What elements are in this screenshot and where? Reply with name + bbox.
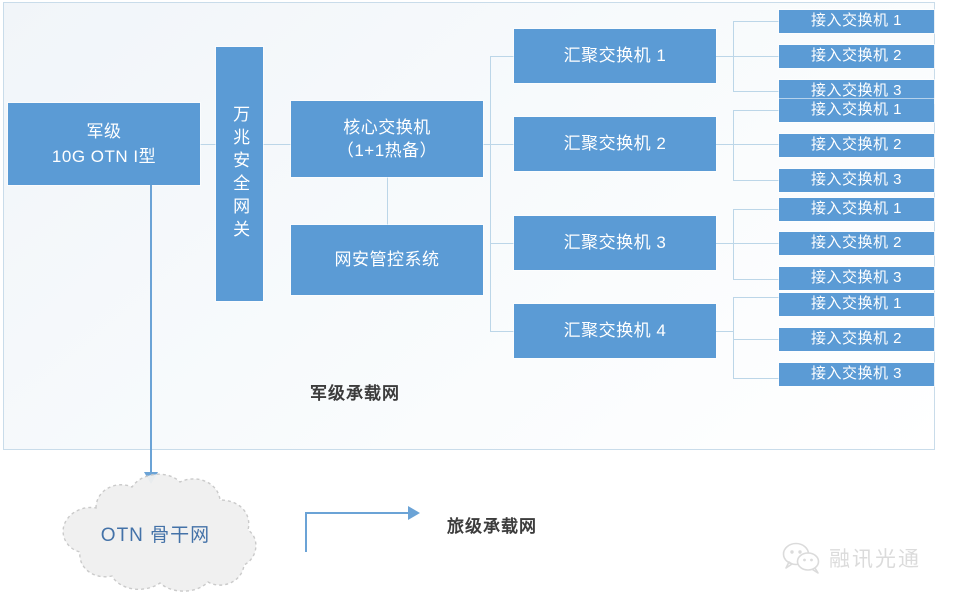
aggregation-switch-1[interactable]: 汇聚交换机 1 [514,29,716,83]
bracket-branch-g1-a2 [733,56,779,57]
core-switch-line2: （1+1热备） [337,140,437,161]
arrow-cloud-to-brigade-head [408,506,420,520]
bracket-branch-g4-a1 [733,297,779,298]
bracket-branch-agg-2 [490,144,514,145]
access-switch-6-label: 接入交换机 3 [811,171,902,190]
connector-gateway-core [263,144,291,145]
bracket-branch-agg-4 [490,331,514,332]
access-switch-12-label: 接入交换机 3 [811,365,902,384]
security-gateway-node[interactable]: 万兆安全网关 [216,47,263,301]
connector-agg1-bracket [716,56,734,57]
arrow-cloud-to-brigade-shaft [305,512,410,514]
aggregation-switch-3[interactable]: 汇聚交换机 3 [514,216,716,270]
arrow-cloud-to-brigade-riser [305,512,307,552]
bracket-spine-aggregation [490,56,491,331]
bracket-branch-g2-a1 [733,110,779,111]
bracket-branch-g3-a2 [733,243,779,244]
otn-backbone-cloud [38,468,273,598]
connector-agg4-bracket [716,331,734,332]
access-switch-1-label: 接入交换机 1 [811,12,902,31]
bracket-spine-group-3 [733,209,734,279]
access-switch-8-label: 接入交换机 2 [811,234,902,253]
otn-terminal-line1: 军级 [87,121,122,142]
connector-core-secmgmt [387,177,388,225]
diagram-canvas: 汇聚交换机 1 汇聚交换机 2 汇聚交换机 3 汇聚交换机 4 接入交换机 1 … [0,0,975,605]
access-switch-7[interactable]: 接入交换机 1 [779,198,934,221]
bracket-branch-g3-a1 [733,209,779,210]
bracket-spine-group-2 [733,110,734,180]
bracket-branch-g4-a3 [733,378,779,379]
brigade-network-label: 旅级承载网 [447,512,537,537]
otn-terminal-node[interactable]: 军级 10G OTN I型 [8,103,200,185]
watermark: 融讯光通 [782,542,921,574]
bracket-branch-agg-1 [490,56,514,57]
access-switch-4[interactable]: 接入交换机 1 [779,99,934,122]
access-switch-1[interactable]: 接入交换机 1 [779,10,934,33]
bracket-branch-agg-3 [490,243,514,244]
core-switch-node[interactable]: 核心交换机 （1+1热备） [291,101,483,177]
access-switch-10-label: 接入交换机 1 [811,295,902,314]
security-management-node[interactable]: 网安管控系统 [291,225,483,295]
connector-otn-gateway [200,144,216,145]
aggregation-switch-4-label: 汇聚交换机 4 [564,320,667,341]
aggregation-switch-2-label: 汇聚交换机 2 [564,133,667,154]
access-switch-2[interactable]: 接入交换机 2 [779,45,934,68]
security-management-label: 网安管控系统 [335,249,440,270]
bracket-branch-g4-a2 [733,339,779,340]
access-switch-10[interactable]: 接入交换机 1 [779,293,934,316]
otn-terminal-line2: 10G OTN I型 [52,146,156,167]
access-switch-7-label: 接入交换机 1 [811,200,902,219]
aggregation-switch-2[interactable]: 汇聚交换机 2 [514,117,716,171]
access-switch-11-label: 接入交换机 2 [811,330,902,349]
military-network-label: 军级承载网 [310,379,400,404]
bracket-branch-g2-a3 [733,180,779,181]
aggregation-switch-4[interactable]: 汇聚交换机 4 [514,304,716,358]
bracket-spine-group-4 [733,297,734,378]
bracket-branch-g3-a3 [733,279,779,280]
aggregation-switch-1-label: 汇聚交换机 1 [564,45,667,66]
access-switch-2-label: 接入交换机 2 [811,47,902,66]
connector-agg2-bracket [716,144,734,145]
bracket-branch-g2-a2 [733,144,779,145]
wechat-icon [782,542,822,574]
access-switch-6[interactable]: 接入交换机 3 [779,169,934,192]
connector-agg3-bracket [716,243,734,244]
access-switch-4-label: 接入交换机 1 [811,101,902,120]
access-switch-9[interactable]: 接入交换机 3 [779,267,934,290]
watermark-text: 融讯光通 [829,543,921,573]
access-switch-5-label: 接入交换机 2 [811,136,902,155]
access-switch-12[interactable]: 接入交换机 3 [779,363,934,386]
bracket-branch-g1-a1 [733,21,779,22]
arrow-otn-to-cloud-shaft [150,185,152,477]
bracket-branch-g1-a3 [733,91,779,92]
access-switch-5[interactable]: 接入交换机 2 [779,134,934,157]
aggregation-switch-3-label: 汇聚交换机 3 [564,232,667,253]
security-gateway-label: 万兆安全网关 [229,105,250,243]
access-switch-11[interactable]: 接入交换机 2 [779,328,934,351]
access-switch-9-label: 接入交换机 3 [811,269,902,288]
access-switch-8[interactable]: 接入交换机 2 [779,232,934,255]
core-switch-line1: 核心交换机 [343,117,431,138]
